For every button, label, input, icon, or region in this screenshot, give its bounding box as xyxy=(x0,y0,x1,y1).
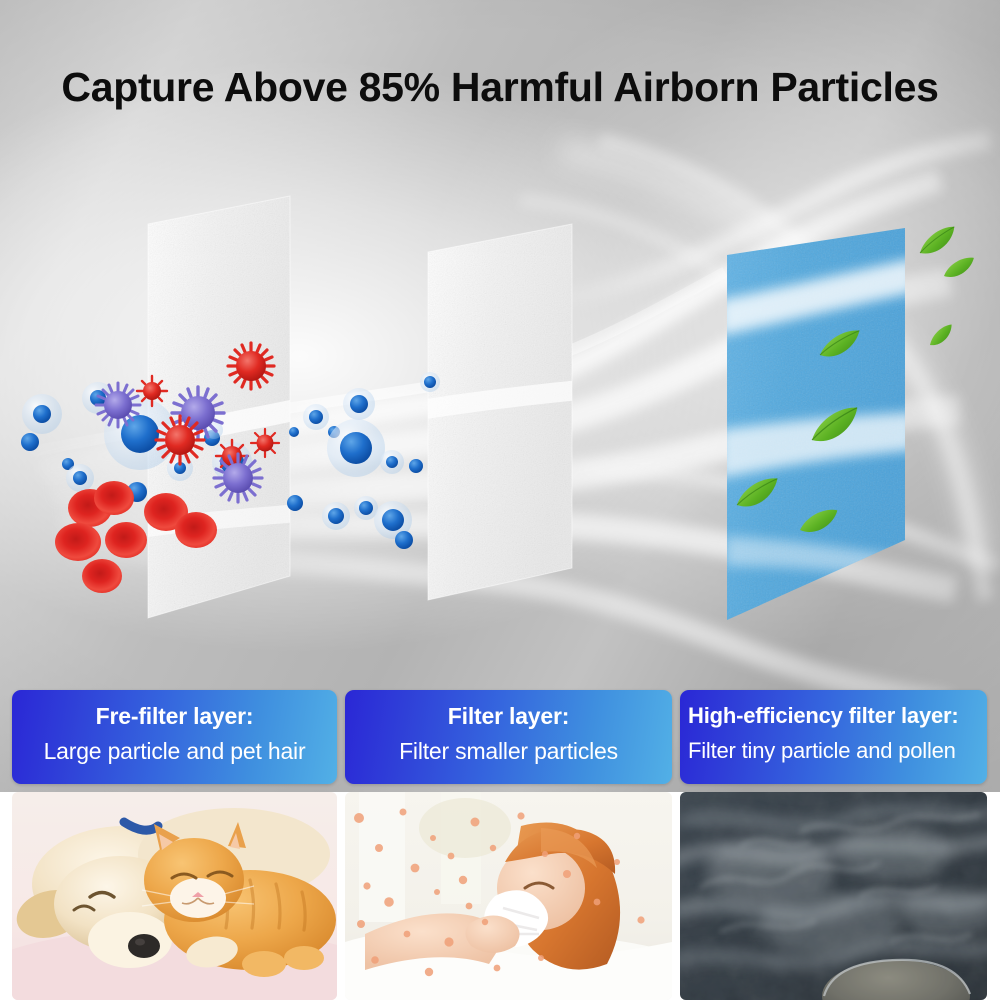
caption-subtitle: Large particle and pet hair xyxy=(12,738,337,765)
caption-title: Filter layer: xyxy=(345,703,672,730)
caption-card-filter[interactable]: Filter layer: Filter smaller particles xyxy=(345,690,672,784)
photo-allergy xyxy=(345,792,672,1000)
caption-card-high-efficiency-filter[interactable]: High-efficiency filter layer: Filter tin… xyxy=(680,690,987,784)
caption-card-pre-filter[interactable]: Fre-filter layer: Large particle and pet… xyxy=(12,690,337,784)
page-title: Capture Above 85% Harmful Airborn Partic… xyxy=(0,64,1000,111)
photo-smoke xyxy=(680,792,987,1000)
pet-hair-illustration xyxy=(12,792,337,1000)
caption-subtitle: Filter tiny particle and pollen xyxy=(688,738,987,764)
hero-illustration: Capture Above 85% Harmful Airborn Partic… xyxy=(0,0,1000,792)
hero-vignette xyxy=(0,0,1000,792)
caption-row: Fre-filter layer: Large particle and pet… xyxy=(0,690,1000,786)
allergy-illustration xyxy=(345,792,672,1000)
photo-pet-hair xyxy=(12,792,337,1000)
smoke-illustration xyxy=(680,792,987,1000)
photo-row xyxy=(0,792,1000,1000)
caption-title: Fre-filter layer: xyxy=(12,703,337,730)
infographic-page: Capture Above 85% Harmful Airborn Partic… xyxy=(0,0,1000,1000)
caption-subtitle: Filter smaller particles xyxy=(345,738,672,765)
caption-title: High-efficiency filter layer: xyxy=(688,703,987,729)
